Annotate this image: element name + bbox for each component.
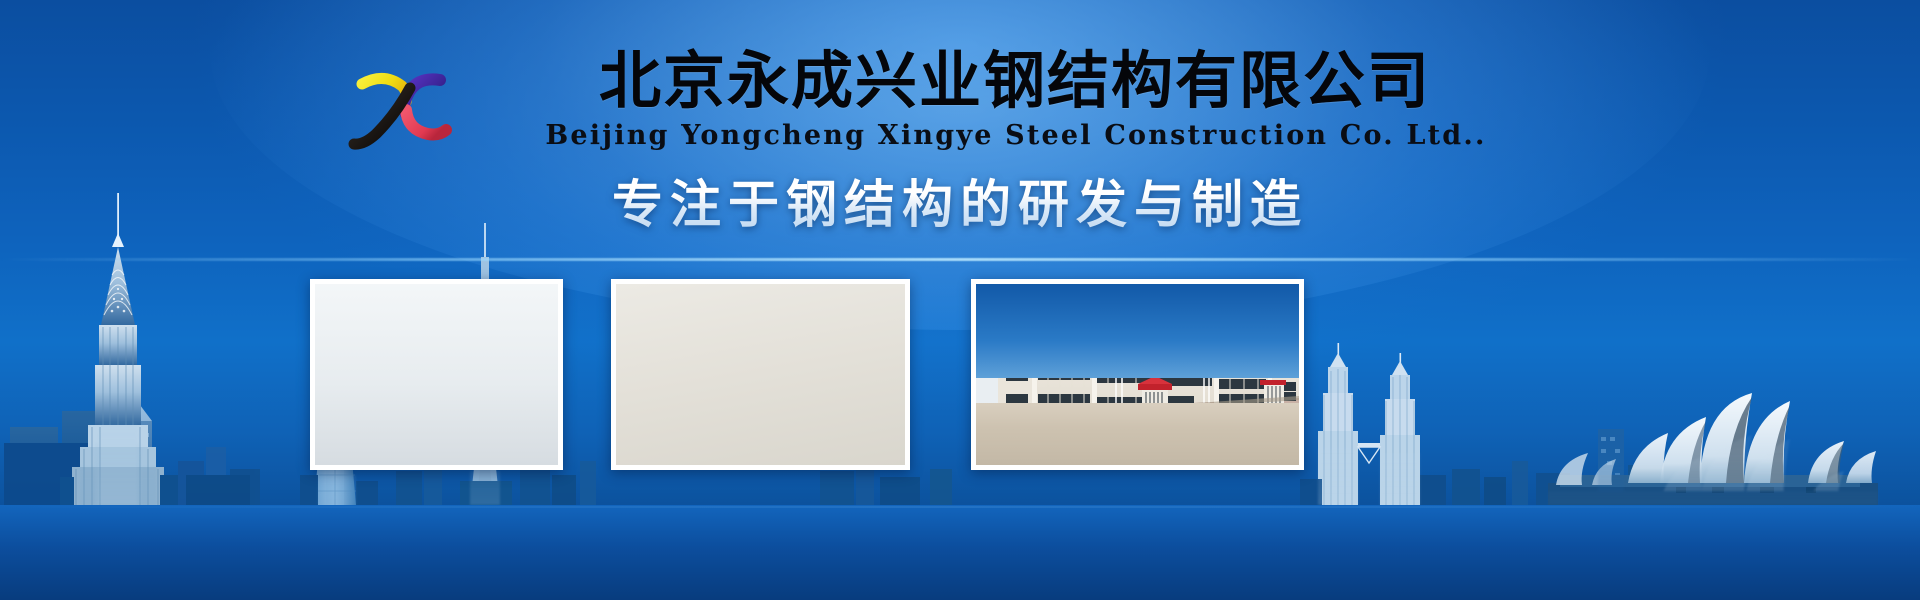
photo-completed-factory-building[interactable] <box>971 279 1304 470</box>
company-banner: 北京永成兴业钢结构有限公司 Beijing Yongcheng Xingye S… <box>0 0 1920 600</box>
company-name-en: Beijing Yongcheng Xingye Steel Construct… <box>0 120 1920 151</box>
light-seam <box>0 258 1920 261</box>
company-tagline: 专注于钢结构的研发与制造 <box>0 163 1920 237</box>
photo-steel-frame-structure[interactable] <box>310 279 563 470</box>
water-surface <box>0 505 1920 600</box>
company-name-cn: 北京永成兴业钢结构有限公司 <box>0 48 1920 113</box>
photo-factory-roof-skylight[interactable] <box>611 279 910 470</box>
skyline-reflection <box>0 385 1920 505</box>
